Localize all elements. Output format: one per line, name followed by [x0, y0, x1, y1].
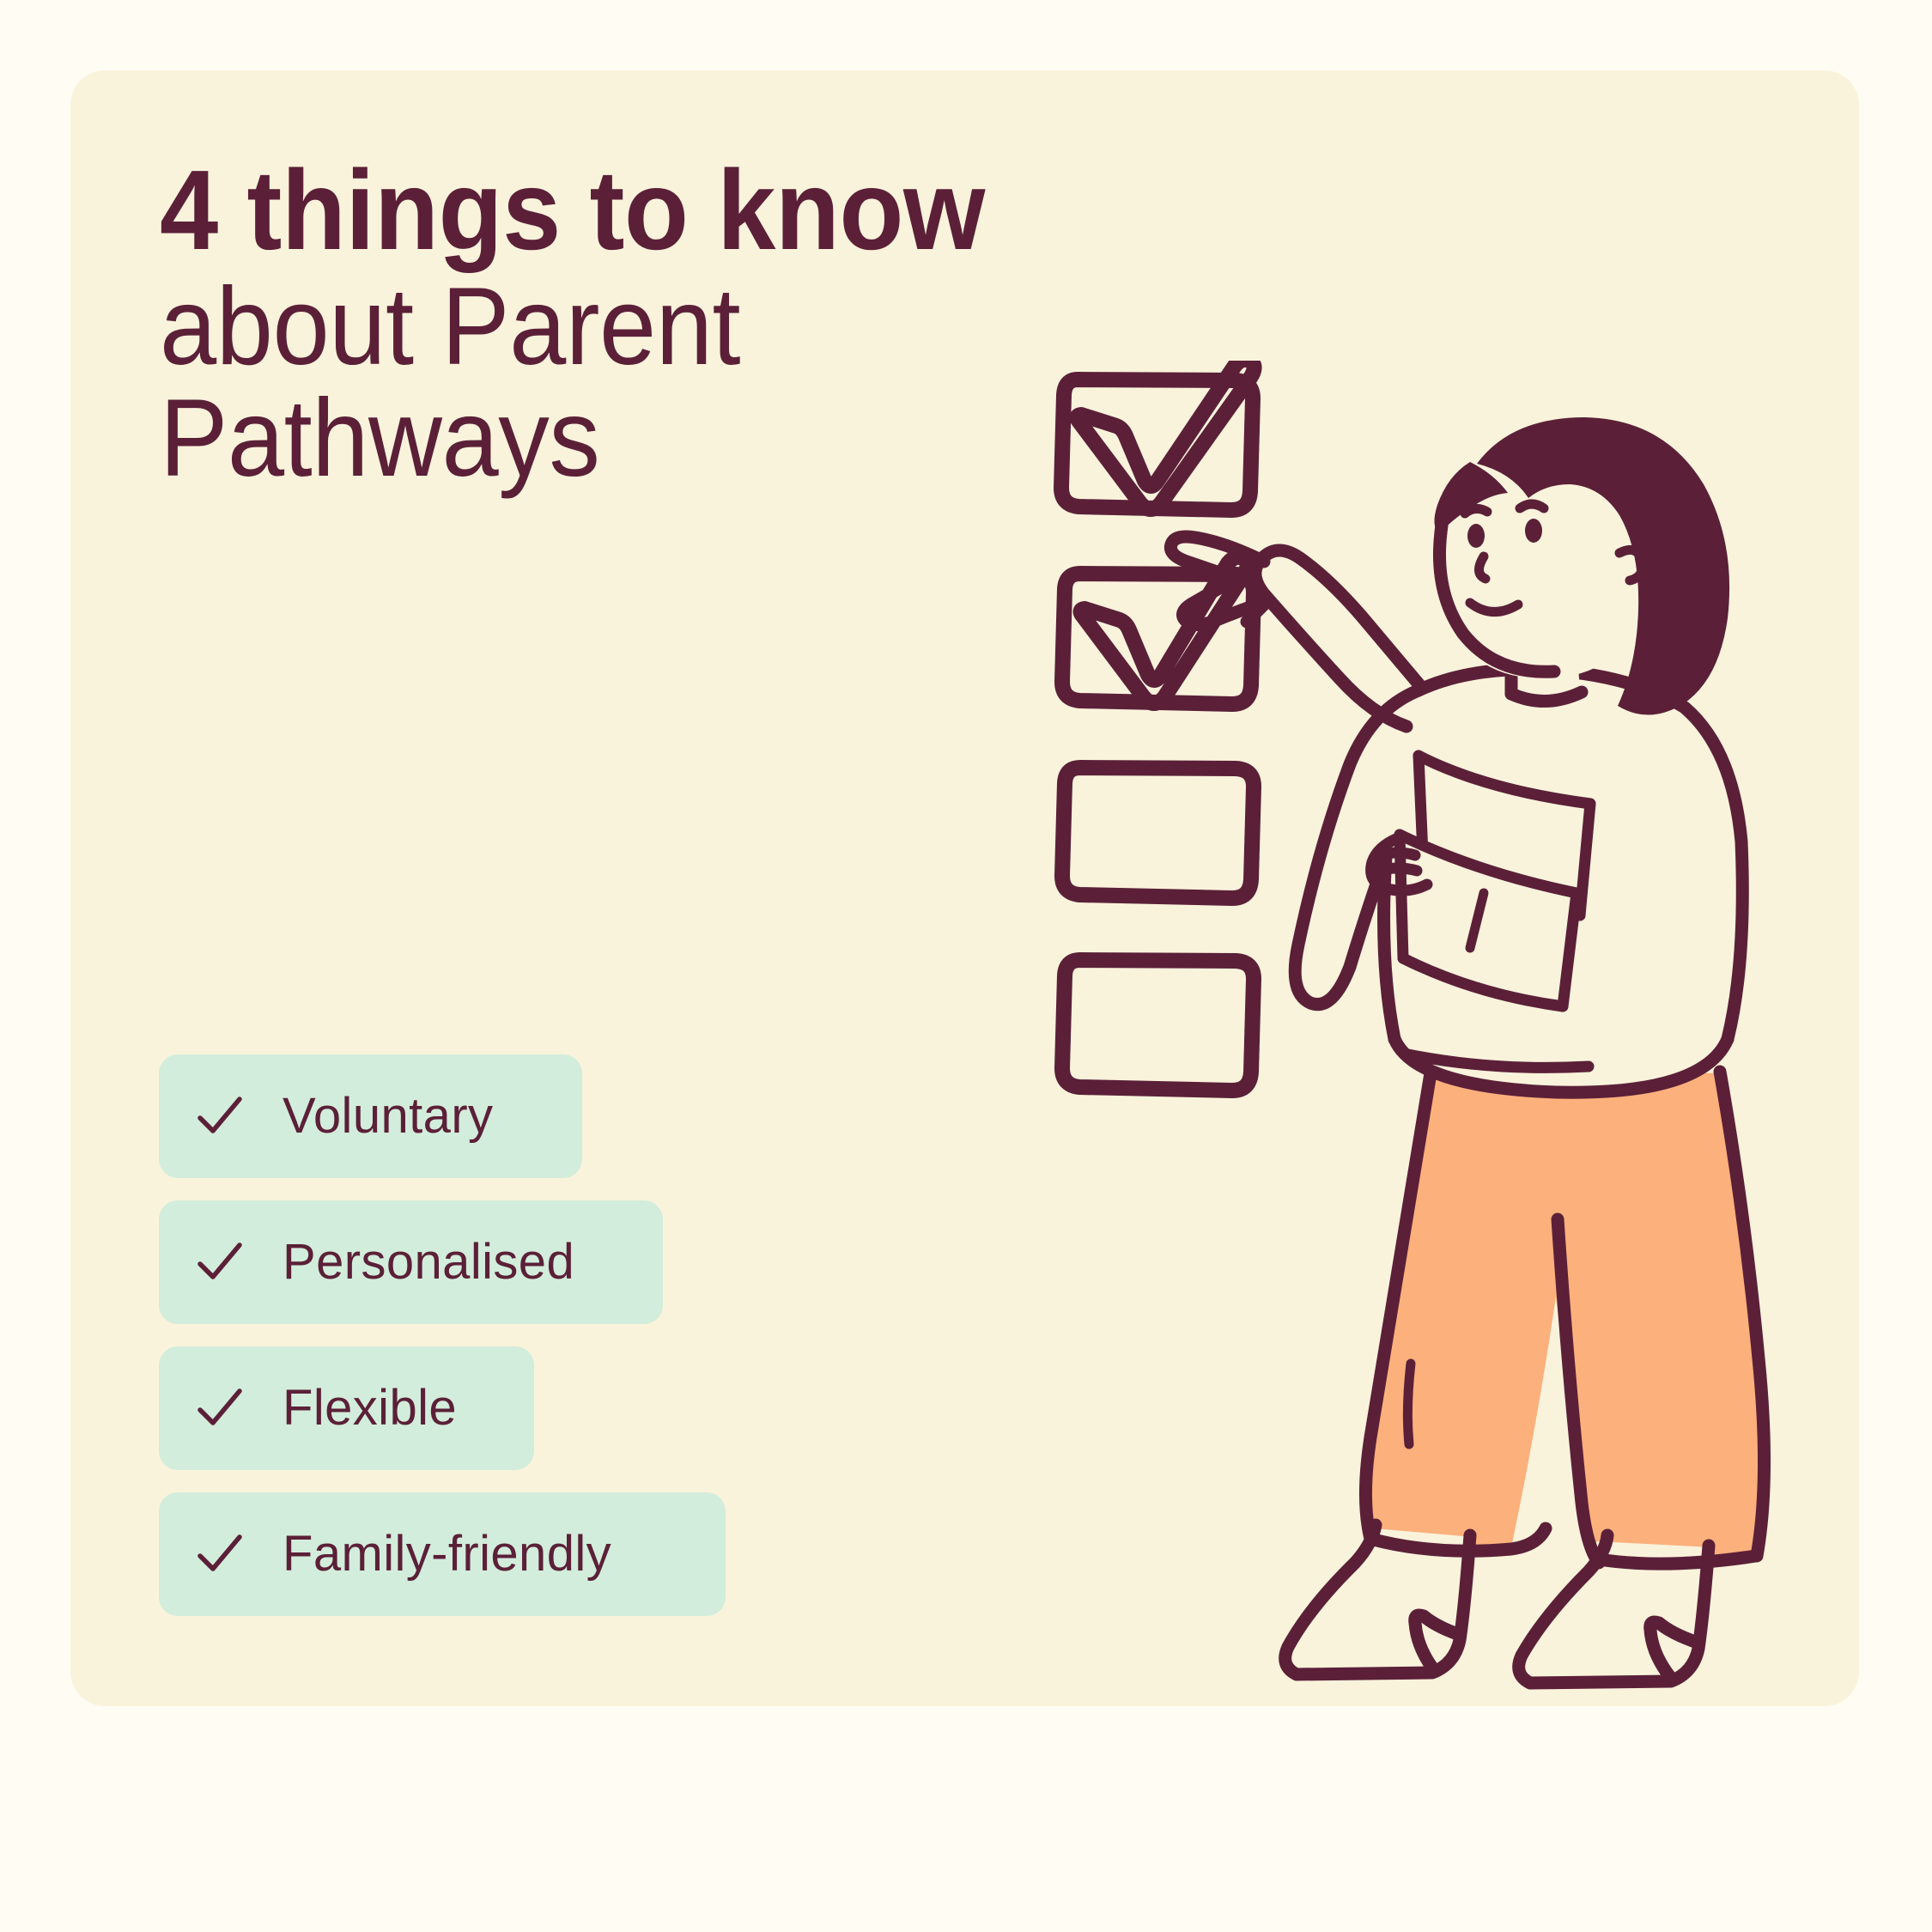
list-item-label: Voluntary [283, 1091, 493, 1141]
check-icon [197, 1239, 243, 1285]
list-item[interactable]: Personalised [159, 1200, 663, 1324]
list-item-label: Flexible [283, 1383, 457, 1433]
poster-canvas: 4 things to know about Parent Pathways V… [0, 0, 1932, 1932]
list-item[interactable]: Flexible [159, 1346, 534, 1470]
page-title-line-3: Pathways [160, 383, 1198, 495]
list-item-label: Personalised [283, 1237, 574, 1287]
list-item[interactable]: Voluntary [159, 1054, 582, 1178]
feature-pill-list: Voluntary Personalised Flexible Family-f… [159, 1054, 726, 1638]
page-title-line-2: about Parent [160, 271, 1198, 383]
check-icon [197, 1385, 243, 1431]
check-icon [197, 1093, 243, 1139]
page-title: 4 things to know about Parent Pathways [160, 156, 1276, 495]
list-item-label: Family-friendly [283, 1529, 611, 1579]
page-title-line-1: 4 things to know [160, 156, 1198, 264]
list-item[interactable]: Family-friendly [159, 1492, 726, 1616]
check-icon [197, 1531, 243, 1577]
